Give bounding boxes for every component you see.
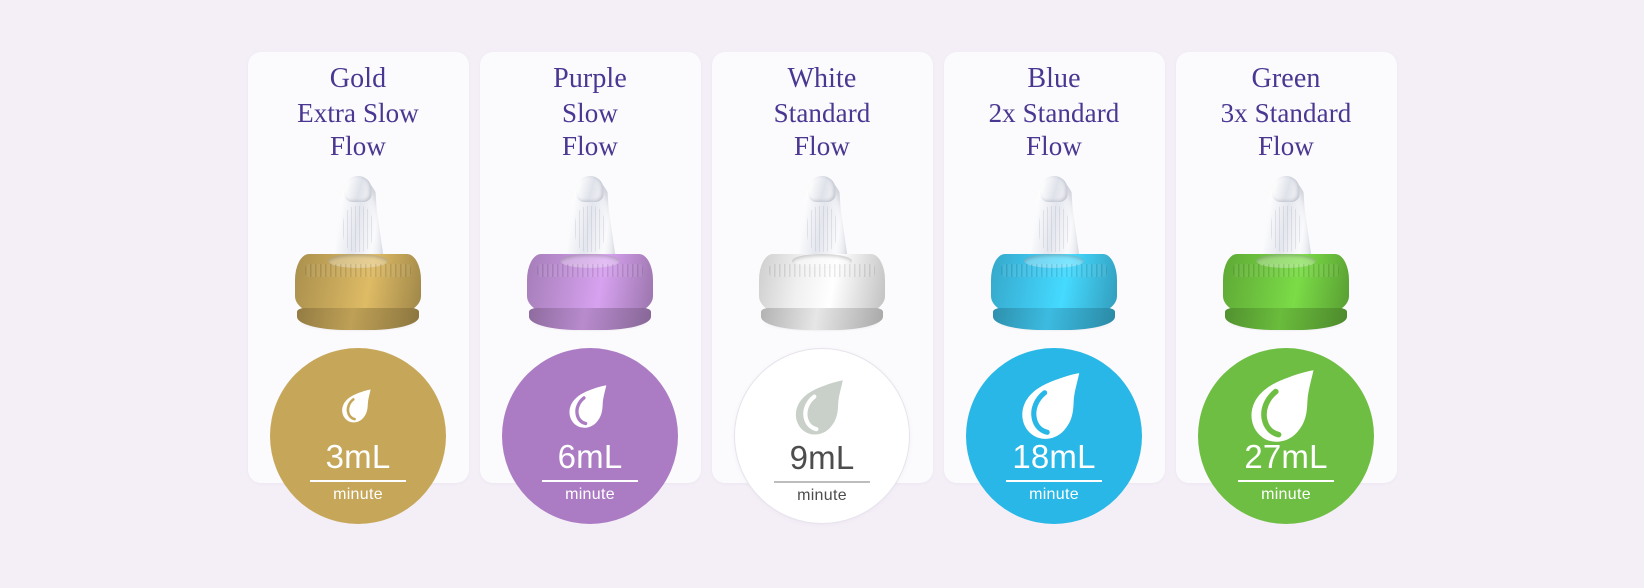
flow-rate-badge[interactable]: 9mL minute	[734, 348, 910, 524]
card-flow-line-2: Flow	[480, 130, 701, 163]
flow-card-green[interactable]: Green 3x Standard Flow	[1176, 52, 1397, 483]
flow-per-unit: minute	[333, 487, 383, 503]
card-flow-line-1: Extra Slow	[248, 97, 469, 130]
card-flow-line-2: Flow	[248, 130, 469, 163]
nipple-tip	[1273, 176, 1300, 202]
flow-rate-badge[interactable]: 27mL minute	[1198, 348, 1374, 524]
collar-knurling	[537, 264, 643, 277]
flow-card-white[interactable]: White Standard Flow	[712, 52, 933, 483]
collar-knurling	[769, 264, 875, 277]
nipple-collar	[1223, 254, 1349, 316]
bottle-nipple-icon	[1216, 176, 1356, 336]
drop-icon-slot	[1020, 374, 1088, 438]
card-heading: Blue 2x Standard Flow	[944, 52, 1165, 164]
nipple-ridges	[1039, 206, 1069, 252]
card-flow-line-2: Flow	[712, 130, 933, 163]
nipple-tip	[809, 176, 836, 202]
collar-lip	[297, 308, 419, 330]
water-drop-icon	[1020, 370, 1088, 442]
nipple-collar	[527, 254, 653, 316]
flow-per-unit: minute	[1029, 487, 1079, 503]
nipple-collar	[991, 254, 1117, 316]
flow-per-unit: minute	[565, 487, 615, 503]
flow-amount: 27mL	[1244, 440, 1327, 473]
card-color-name: Gold	[248, 62, 469, 97]
nipple-ridges	[1271, 206, 1301, 252]
nipple-photo	[944, 176, 1165, 336]
card-heading: Purple Slow Flow	[480, 52, 701, 164]
card-flow-line-1: 3x Standard	[1176, 97, 1397, 130]
card-flow-line-1: Slow	[480, 97, 701, 130]
flow-amount: 3mL	[326, 440, 391, 473]
nipple-ridges	[807, 206, 837, 252]
card-flow-line-1: Standard	[712, 97, 933, 130]
nipple-tip	[345, 176, 372, 202]
flow-card-gold[interactable]: Gold Extra Slow Flow	[248, 52, 469, 483]
nipple-photo	[1176, 176, 1397, 336]
drop-icon-slot	[341, 374, 375, 438]
bottle-nipple-icon	[984, 176, 1124, 336]
drop-icon-slot	[1249, 374, 1323, 438]
nipple-collar	[759, 254, 885, 316]
bottle-nipple-icon	[520, 176, 660, 336]
nipple-photo	[248, 176, 469, 336]
flow-amount: 6mL	[558, 440, 623, 473]
flow-card-purple[interactable]: Purple Slow Flow	[480, 52, 701, 483]
nipple-tip	[577, 176, 604, 202]
water-drop-icon	[1249, 367, 1323, 445]
collar-knurling	[1001, 264, 1107, 277]
badge-divider	[542, 480, 638, 482]
flow-amount: 18mL	[1012, 440, 1095, 473]
nipple-collar	[295, 254, 421, 316]
flow-per-unit: minute	[1261, 487, 1311, 503]
card-flow-line-2: Flow	[944, 130, 1165, 163]
nipple-ridges	[575, 206, 605, 252]
card-color-name: Blue	[944, 62, 1165, 97]
card-flow-line-2: Flow	[1176, 130, 1397, 163]
nipple-photo	[712, 176, 933, 336]
collar-lip	[529, 308, 651, 330]
nipple-ridges	[343, 206, 373, 252]
flow-amount: 9mL	[790, 441, 855, 474]
flow-card-blue[interactable]: Blue 2x Standard Flow	[944, 52, 1165, 483]
collar-knurling	[1233, 264, 1339, 277]
drop-icon-slot	[794, 375, 850, 439]
collar-lip	[993, 308, 1115, 330]
flow-per-unit: minute	[797, 488, 847, 504]
flow-rate-badge[interactable]: 3mL minute	[270, 348, 446, 524]
card-heading: White Standard Flow	[712, 52, 933, 164]
badge-divider	[310, 480, 406, 482]
water-drop-icon	[341, 388, 375, 424]
flow-rate-comparison-board: Gold Extra Slow Flow	[0, 0, 1644, 588]
drop-icon-slot	[568, 374, 612, 438]
card-flow-line-1: 2x Standard	[944, 97, 1165, 130]
collar-knurling	[305, 264, 411, 277]
bottle-nipple-icon	[288, 176, 428, 336]
card-heading: Gold Extra Slow Flow	[248, 52, 469, 164]
card-color-name: White	[712, 62, 933, 97]
badge-divider	[1238, 480, 1334, 482]
water-drop-icon	[568, 383, 612, 430]
card-color-name: Green	[1176, 62, 1397, 97]
collar-lip	[761, 308, 883, 330]
water-drop-icon	[794, 378, 850, 437]
nipple-tip	[1041, 176, 1068, 202]
collar-lip	[1225, 308, 1347, 330]
card-color-name: Purple	[480, 62, 701, 97]
nipple-photo	[480, 176, 701, 336]
flow-rate-badge[interactable]: 6mL minute	[502, 348, 678, 524]
bottle-nipple-icon	[752, 176, 892, 336]
badge-divider	[774, 481, 870, 483]
flow-rate-badge[interactable]: 18mL minute	[966, 348, 1142, 524]
badge-divider	[1006, 480, 1102, 482]
card-heading: Green 3x Standard Flow	[1176, 52, 1397, 164]
